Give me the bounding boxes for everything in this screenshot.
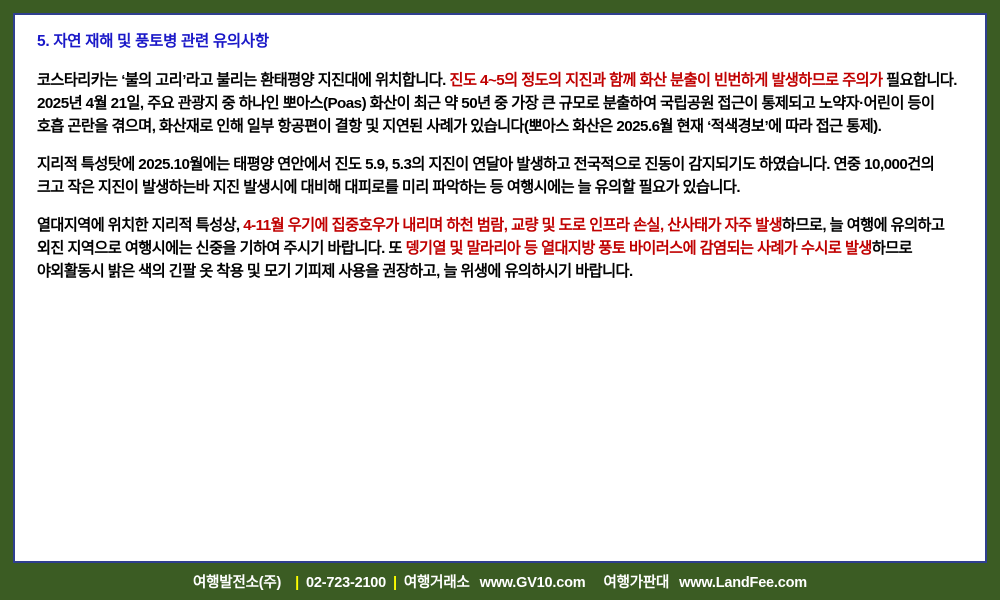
highlighted-text-run: 뎅기열 및 말라리아 등 열대지방 풍토 바이러스에 감염되는 사례가 수시로 … bbox=[406, 240, 872, 257]
footer-separator-2: | bbox=[393, 575, 397, 591]
footer-market-url[interactable]: www.LandFee.com bbox=[679, 575, 807, 591]
paragraph-seismic-statistics: 지리적 특성탓에 2025.10월에는 태평양 연안에서 진도 5.9, 5.3… bbox=[37, 153, 963, 199]
text-run: 코스타리카는 ‘불의 고리’라고 불리는 환태평양 지진대에 위치합니다. bbox=[37, 72, 450, 89]
slide-root: 5. 자연 재해 및 풍토병 관련 유의사항 코스타리카는 ‘불의 고리’라고 … bbox=[0, 0, 1000, 600]
footer-phone-number: 02-723-2100 bbox=[306, 575, 386, 591]
footer-bar: 여행발전소(주) | 02-723-2100 | 여행거래소 www.GV10.… bbox=[0, 563, 1000, 600]
highlighted-text-run: 4-11월 우기에 집중호우가 내리며 하천 범람, 교량 및 도로 인프라 손… bbox=[243, 217, 782, 234]
footer-market-label: 여행가판대 bbox=[603, 571, 669, 592]
footer-company-name: 여행발전소(주) bbox=[193, 571, 281, 592]
footer-separator-1: | bbox=[295, 575, 299, 591]
paragraph-earthquake-volcano: 코스타리카는 ‘불의 고리’라고 불리는 환태평양 지진대에 위치합니다. 진도… bbox=[37, 69, 963, 138]
content-card: 5. 자연 재해 및 풍토병 관련 유의사항 코스타리카는 ‘불의 고리’라고 … bbox=[13, 13, 987, 563]
text-run: 열대지역에 위치한 지리적 특성상, bbox=[37, 217, 243, 234]
footer-contact-line: 여행발전소(주) | 02-723-2100 | 여행거래소 www.GV10.… bbox=[193, 571, 807, 592]
page-title: 5. 자연 재해 및 풍토병 관련 유의사항 bbox=[37, 31, 963, 53]
footer-broker-url[interactable]: www.GV10.com bbox=[480, 575, 586, 591]
text-run: 지리적 특성탓에 2025.10월에는 태평양 연안에서 진도 5.9, 5.3… bbox=[37, 156, 934, 196]
paragraph-rainy-season-disease: 열대지역에 위치한 지리적 특성상, 4-11월 우기에 집중호우가 내리며 하… bbox=[37, 214, 963, 283]
footer-broker-label: 여행거래소 bbox=[404, 571, 470, 592]
highlighted-text-run: 진도 4~5의 정도의 지진과 함께 화산 분출이 빈번하게 발생하므로 주의가 bbox=[450, 72, 887, 89]
